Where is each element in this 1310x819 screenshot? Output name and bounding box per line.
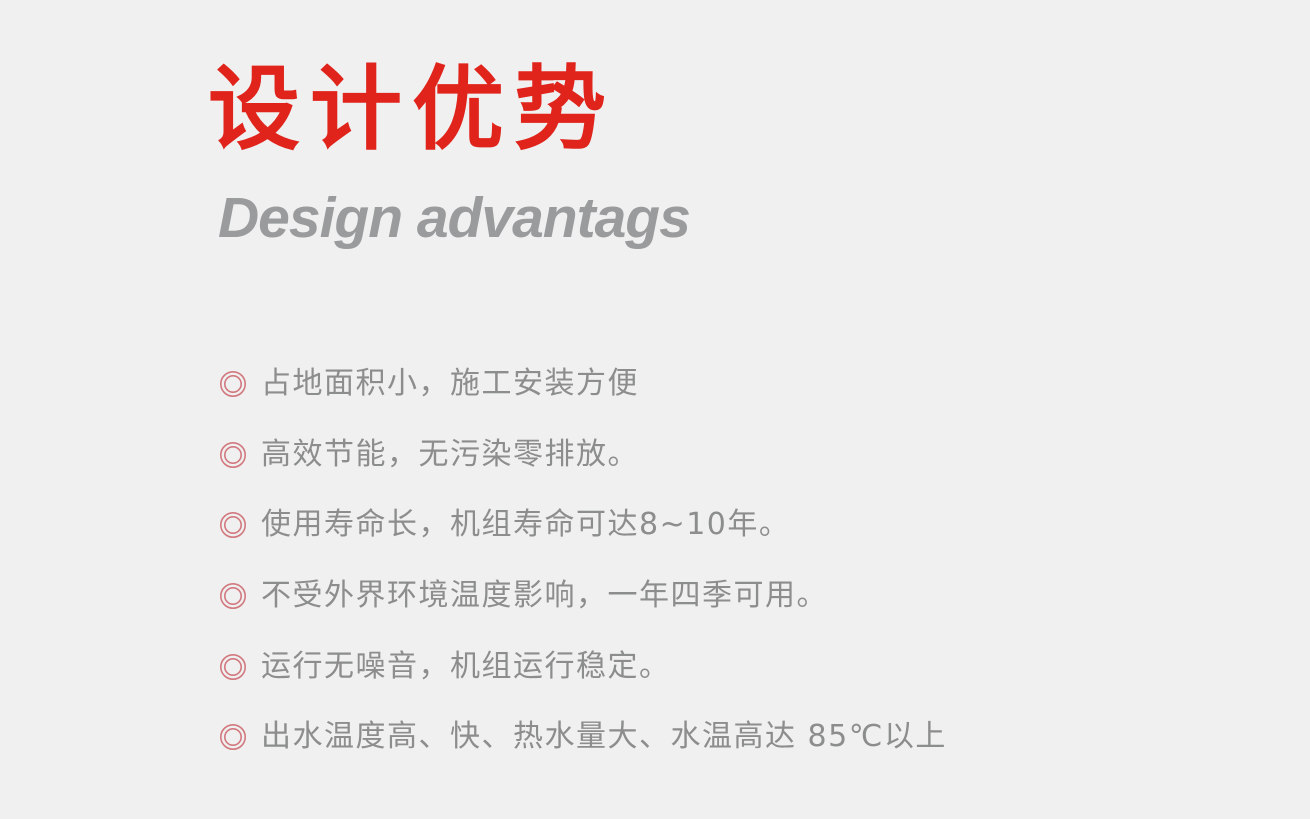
list-item: 出水温度高、快、热水量大、水温高达 85℃以上 — [219, 702, 1279, 773]
list-item: 占地面积小，施工安装方便 — [219, 349, 1279, 420]
list-item-label: 高效节能，无污染零排放。 — [261, 440, 639, 470]
double-circle-icon — [219, 582, 247, 610]
double-circle-icon — [219, 723, 247, 751]
page-subtitle: Design advantags — [208, 159, 1208, 251]
list-item-label: 使用寿命长，机组寿命可达8~10年。 — [261, 510, 790, 540]
double-circle-icon — [219, 370, 247, 398]
list-item: 运行无噪音，机组运行稳定。 — [219, 631, 1279, 702]
list-item: 高效节能，无污染零排放。 — [219, 420, 1279, 491]
double-circle-icon — [219, 511, 247, 539]
page-title: 设计优势 — [208, 62, 1208, 159]
list-item-label: 出水温度高、快、热水量大、水温高达 85℃以上 — [261, 722, 947, 752]
list-item: 不受外界环境温度影响，一年四季可用。 — [219, 561, 1279, 632]
advantage-list: 占地面积小，施工安装方便 高效节能，无污染零排放。 使用寿命长，机组寿命可达8~… — [219, 349, 1279, 773]
heading-block: 设计优势 Design advantags — [208, 62, 1208, 251]
double-circle-icon — [219, 441, 247, 469]
list-item: 使用寿命长，机组寿命可达8~10年。 — [219, 490, 1279, 561]
list-item-label: 运行无噪音，机组运行稳定。 — [261, 652, 671, 682]
double-circle-icon — [219, 653, 247, 681]
list-item-label: 占地面积小，施工安装方便 — [261, 369, 639, 399]
slide-canvas: 设计优势 Design advantags 占地面积小，施工安装方便 高效节能，… — [0, 0, 1310, 819]
list-item-label: 不受外界环境温度影响，一年四季可用。 — [261, 581, 828, 611]
